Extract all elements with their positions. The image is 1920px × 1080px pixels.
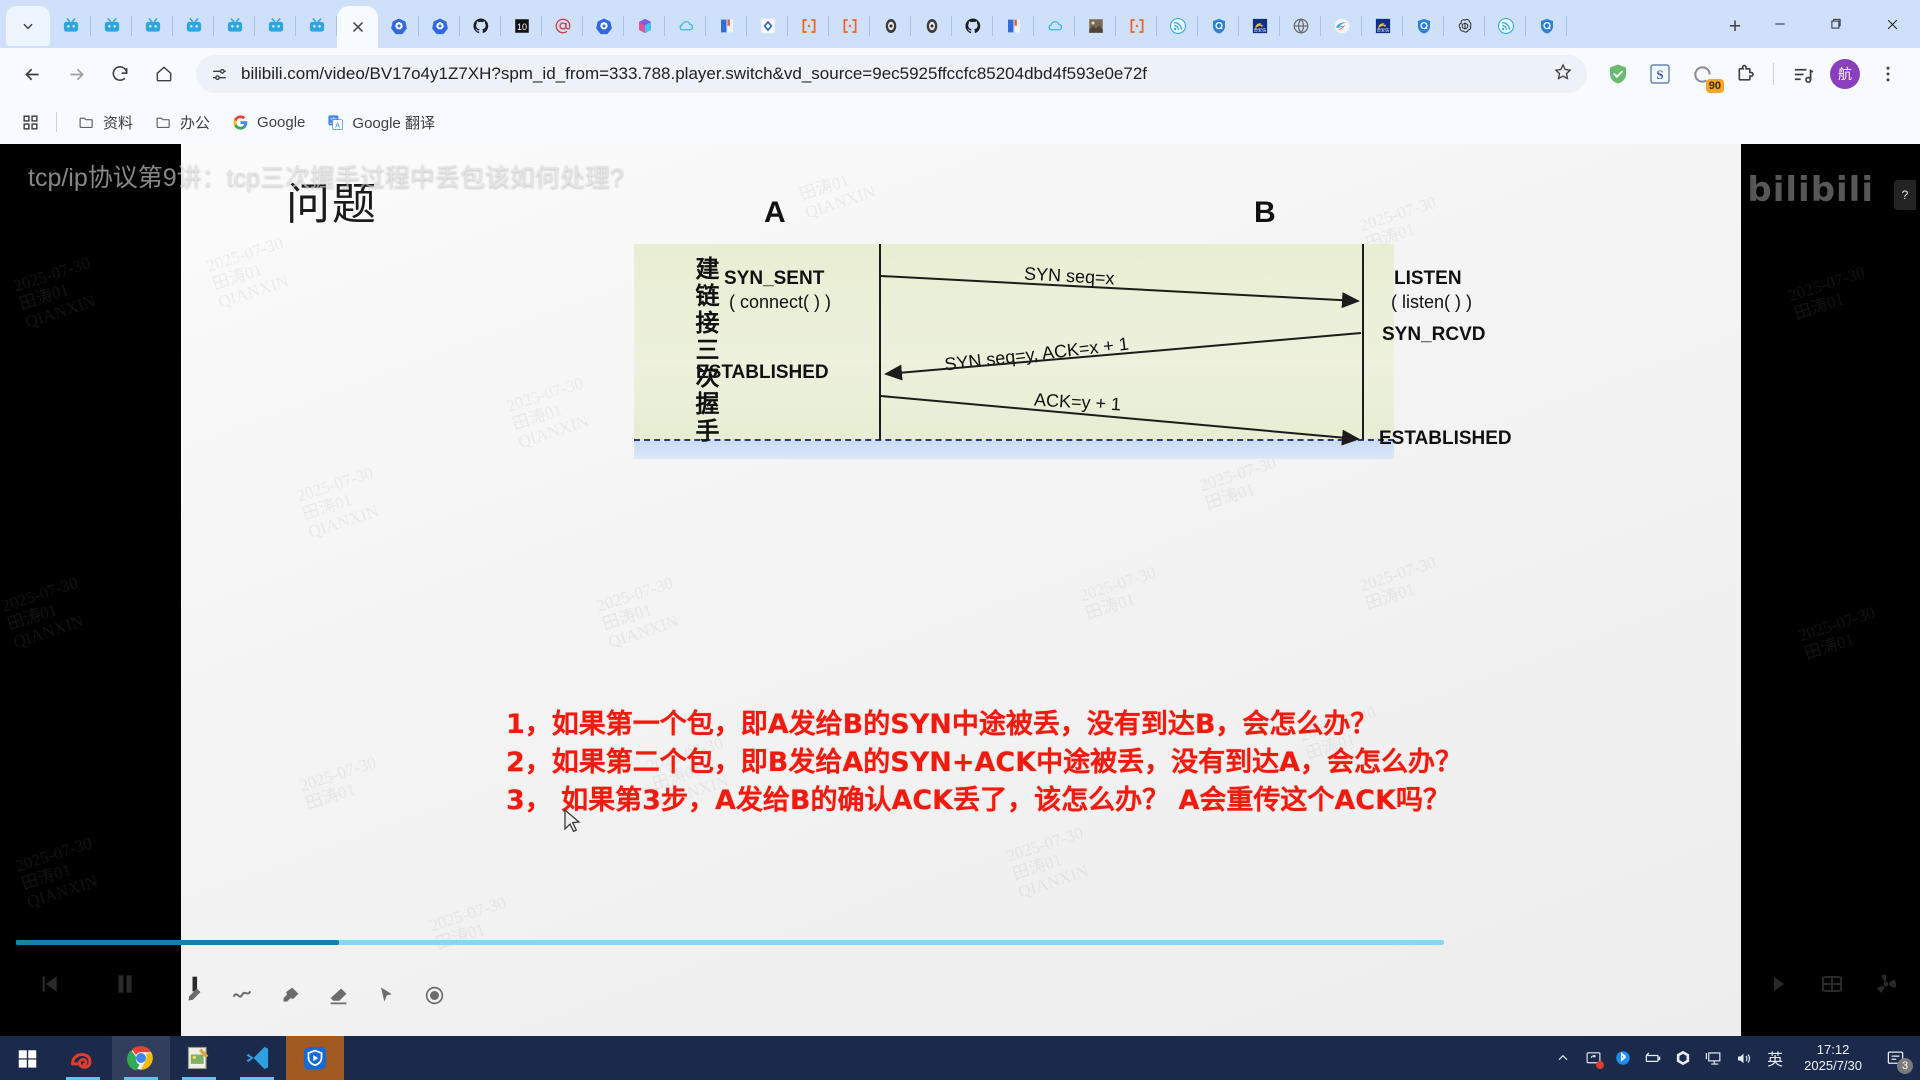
watermark: 2025-07-30田涛01QIANXIN xyxy=(13,833,106,912)
globe-icon xyxy=(1292,17,1310,35)
system-tray: 英 17:12 2025/7/30 3 xyxy=(1548,1036,1920,1080)
avatar[interactable]: 航 xyxy=(1830,59,1860,89)
svg-text:奇安信: 奇安信 xyxy=(1253,26,1266,33)
watermark: 2025-07-30田涛01QIANXIN xyxy=(0,573,92,652)
rss-icon xyxy=(1169,17,1187,35)
browser-tab-31[interactable] xyxy=(1321,6,1362,46)
diamond-icon xyxy=(759,17,777,35)
bracket-icon xyxy=(1128,17,1146,35)
new-tab-button[interactable]: + xyxy=(1718,9,1752,43)
sogou-icon[interactable]: S xyxy=(1643,57,1677,91)
pause-icon[interactable] xyxy=(105,964,145,1004)
sync-alert-dot xyxy=(1596,1061,1604,1069)
openai-icon xyxy=(1456,17,1474,35)
watermark: 2025-07-30田涛01 xyxy=(297,753,384,814)
blocker-icon[interactable]: 90 xyxy=(1685,57,1719,91)
bilibili-icon xyxy=(103,17,121,35)
bookmarks-divider xyxy=(56,112,57,132)
watermark: 2025-07-30田涛01QIANXIN xyxy=(594,573,687,652)
kubernetes-icon xyxy=(431,17,449,35)
ten-icon: 10 xyxy=(513,17,531,35)
svg-text:A: A xyxy=(336,121,341,129)
eraser-icon[interactable] xyxy=(325,982,351,1008)
svg-text:10: 10 xyxy=(516,22,526,32)
annotation-toolbar xyxy=(181,982,447,1008)
close-window-icon[interactable] xyxy=(1864,2,1920,46)
browser-tab-10[interactable] xyxy=(460,6,501,46)
progress-played xyxy=(16,940,339,945)
kubernetes-icon xyxy=(595,17,613,35)
help-hint-button[interactable]: ? xyxy=(1894,180,1916,210)
svg-text:奇安信: 奇安信 xyxy=(1376,26,1389,33)
browser-tab-4[interactable] xyxy=(214,6,255,46)
browser-tab-22[interactable] xyxy=(952,6,993,46)
chevron-up-icon[interactable] xyxy=(1548,1036,1578,1080)
disc-icon xyxy=(882,17,900,35)
record-icon[interactable] xyxy=(421,982,447,1008)
tab-list-chevron-down-icon[interactable] xyxy=(6,6,50,46)
browser-tab-34[interactable] xyxy=(1444,6,1485,46)
display-icon[interactable] xyxy=(1698,1036,1728,1080)
bilibili-watermark: bilibili xyxy=(1747,170,1874,210)
aliyun-icon xyxy=(1333,17,1351,35)
notification-count: 3 xyxy=(1897,1058,1913,1074)
browser-tab-9[interactable] xyxy=(419,6,460,46)
watermark: 2025-07-30田涛01 xyxy=(1786,263,1873,324)
question-item-1: 1，如果第一个包，即A发给B的SYN中途被丢，没有到达B，会怎么办？ xyxy=(506,706,1462,744)
browser-tab-36[interactable] xyxy=(1526,6,1567,46)
watermark: 2025-07-30田涛01QIANXIN xyxy=(504,373,597,452)
shield-q-icon xyxy=(1210,17,1228,35)
bilibili-icon xyxy=(144,17,162,35)
tcp-handshake-diagram: A B 建链接三次握手 SYN_SENT ( connect( ) ) ESTA… xyxy=(634,196,1394,481)
watermark: 2025-07-30田涛01QIANXIN xyxy=(294,463,387,542)
folder-icon xyxy=(78,114,95,131)
bracket-icon xyxy=(841,17,859,35)
bookmark-label: Google 翻译 xyxy=(352,112,435,133)
close-icon xyxy=(349,18,367,36)
bilibili-icon xyxy=(308,17,326,35)
browser-tab-11[interactable]: 10 xyxy=(501,6,542,46)
browser-tab-15[interactable] xyxy=(665,6,706,46)
browser-tab-29[interactable]: 奇安信 xyxy=(1239,6,1280,46)
clock[interactable]: 17:12 2025/7/30 xyxy=(1792,1042,1874,1074)
diagram-arrows xyxy=(634,196,1394,481)
watermark: 2025-07-30田涛01 xyxy=(1077,563,1164,624)
browser-tab-33[interactable] xyxy=(1403,6,1444,46)
watermark: 2025-07-30田涛01 xyxy=(1357,553,1444,614)
next-icon[interactable] xyxy=(1760,964,1800,1004)
browser-tab-3[interactable] xyxy=(173,6,214,46)
shield-q-icon xyxy=(1538,17,1556,35)
browser-tab-28[interactable] xyxy=(1198,6,1239,46)
clock-date: 2025/7/30 xyxy=(1804,1058,1862,1074)
book-icon xyxy=(718,17,736,35)
back-arrow-icon[interactable] xyxy=(13,55,51,93)
github-icon xyxy=(472,17,490,35)
slide-stage: 2025-07-30田涛01QIANXIN 2025-07-30田涛01QIAN… xyxy=(181,144,1741,1036)
browser-tab-14[interactable] xyxy=(624,6,665,46)
bracket-icon xyxy=(800,17,818,35)
extensions-puzzle-icon[interactable] xyxy=(1727,57,1761,91)
star-icon[interactable] xyxy=(1553,62,1573,87)
url-text[interactable]: bilibili.com/video/BV17o4y1Z7XH?spm_id_f… xyxy=(241,64,1545,84)
windows-start-icon[interactable] xyxy=(0,1036,54,1080)
disc-icon xyxy=(923,17,941,35)
browser-tab-0[interactable] xyxy=(50,6,91,46)
browser-window: 10奇安信奇安信 + xyxy=(0,0,1920,1080)
watermark: 2025-07-30田涛01QIANXIN xyxy=(11,253,104,332)
bookmark-item-google[interactable]: Google xyxy=(223,107,314,137)
sync-icon[interactable] xyxy=(1578,1036,1608,1080)
at-icon xyxy=(554,17,572,35)
browser-tab-5[interactable] xyxy=(255,6,296,46)
mouse-cursor xyxy=(563,809,583,842)
taskbar-app-vscode[interactable] xyxy=(228,1036,286,1080)
state-b-established: ESTABLISHED xyxy=(1379,428,1512,450)
bilibili-icon xyxy=(62,17,80,35)
browser-tab-23[interactable] xyxy=(993,6,1034,46)
bookmark-label: 资料 xyxy=(103,112,133,133)
browser-tab-17[interactable] xyxy=(747,6,788,46)
qianxin-icon: 奇安信 xyxy=(1251,17,1269,35)
browser-tab-32[interactable]: 奇安信 xyxy=(1362,6,1403,46)
ime-indicator[interactable]: 英 xyxy=(1758,1046,1792,1070)
volume-icon[interactable] xyxy=(1728,1036,1758,1080)
highlighter-icon[interactable] xyxy=(277,982,303,1008)
forward-arrow-icon[interactable] xyxy=(57,55,95,93)
pointer-icon[interactable] xyxy=(373,982,399,1008)
video-player[interactable]: 2025-07-30田涛01QIANXIN 2025-07-30田涛01QIAN… xyxy=(0,144,1920,1036)
home-icon[interactable] xyxy=(145,55,183,93)
grid-layout-icon[interactable] xyxy=(1812,964,1852,1004)
book-icon xyxy=(1005,17,1023,35)
browser-tab-6[interactable] xyxy=(296,6,337,46)
state-syn-rcvd: SYN_RCVD xyxy=(1382,324,1485,346)
battery-icon[interactable] xyxy=(1638,1036,1668,1080)
reload-icon[interactable] xyxy=(101,55,139,93)
browser-tab-35[interactable] xyxy=(1485,6,1526,46)
svg-text:S: S xyxy=(1656,67,1663,82)
bookmark-item-bangong[interactable]: 办公 xyxy=(146,107,219,137)
browser-tab-21[interactable] xyxy=(911,6,952,46)
state-listen: LISTEN xyxy=(1394,268,1462,290)
browser-tab-19[interactable] xyxy=(829,6,870,46)
bookmark-item-ziliao[interactable]: 资料 xyxy=(69,107,142,137)
browser-tab-26[interactable] xyxy=(1116,6,1157,46)
window-controls xyxy=(1752,0,1920,48)
blocker-badge: 90 xyxy=(1706,79,1724,93)
browser-tab-2[interactable] xyxy=(132,6,173,46)
state-listen-sub: ( listen( ) ) xyxy=(1391,292,1472,313)
browser-tab-1[interactable] xyxy=(91,6,132,46)
browser-tab-24[interactable] xyxy=(1034,6,1075,46)
browser-tab-20[interactable] xyxy=(870,6,911,46)
watermark: 2025-07-30田涛01QIANXIN xyxy=(1004,823,1097,902)
browser-tab-27[interactable] xyxy=(1157,6,1198,46)
video-page: 2025-07-30田涛01QIANXIN 2025-07-30田涛01QIAN… xyxy=(0,144,1920,1036)
taskbar-app-player[interactable] xyxy=(286,1036,344,1080)
radiation-icon[interactable] xyxy=(1866,964,1906,1004)
browser-tab-13[interactable] xyxy=(583,6,624,46)
three-dot-menu-icon[interactable] xyxy=(1869,55,1907,93)
apps-grid-icon[interactable] xyxy=(16,108,44,136)
browser-tab-18[interactable] xyxy=(788,6,829,46)
bilibili-icon xyxy=(226,17,244,35)
shield-q-icon xyxy=(1415,17,1433,35)
address-bar[interactable]: bilibili.com/video/BV17o4y1Z7XH?spm_id_f… xyxy=(196,55,1587,93)
progress-bar[interactable] xyxy=(16,940,1716,946)
pen-icon[interactable] xyxy=(181,982,207,1008)
cloud-icon xyxy=(677,17,695,35)
bookmark-item-google-translate[interactable]: 文A Google 翻译 xyxy=(318,107,444,137)
package-icon xyxy=(636,17,654,35)
bookmarks-bar: 资料 办公 Google 文A Google 翻译 xyxy=(0,100,1920,144)
toolbar-divider xyxy=(1773,63,1774,85)
browser-tab-30[interactable] xyxy=(1280,6,1321,46)
bluetooth-icon[interactable] xyxy=(1608,1036,1638,1080)
rss-icon xyxy=(1497,17,1515,35)
taskbar-app-snail[interactable] xyxy=(54,1036,112,1080)
bookmark-label: 办公 xyxy=(180,112,210,133)
page-title: 问题 xyxy=(286,168,378,232)
curve-icon[interactable] xyxy=(229,982,255,1008)
browser-toolbar: bilibili.com/video/BV17o4y1Z7XH?spm_id_f… xyxy=(0,48,1920,100)
tabs: 10奇安信奇安信 xyxy=(50,6,1712,48)
adguard-icon[interactable] xyxy=(1601,57,1635,91)
browser-tab-16[interactable] xyxy=(706,6,747,46)
browser-tab-12[interactable] xyxy=(542,6,583,46)
question-item-3: 3， 如果第3步，A发给B的确认ACK丢了，该怎么办？ A会重传这个ACK吗？ xyxy=(506,782,1462,820)
taskbar-app-image-editor[interactable] xyxy=(170,1036,228,1080)
folder-icon xyxy=(155,114,172,131)
notification-icon[interactable]: 3 xyxy=(1874,1036,1916,1080)
qianxin-icon: 奇安信 xyxy=(1374,17,1392,35)
watermark: 2025-07-30田涛01 xyxy=(1796,603,1883,664)
minimize-icon[interactable] xyxy=(1752,2,1808,46)
windows-taskbar: 英 17:12 2025/7/30 3 xyxy=(0,1036,1920,1080)
bilibili-icon xyxy=(267,17,285,35)
tab-strip: 10奇安信奇安信 + xyxy=(0,0,1920,48)
question-item-2: 2，如果第二个包，即B发给A的SYN+ACK中途被丢，没有到达A，会怎么办？ xyxy=(506,744,1462,782)
hexagon-icon[interactable] xyxy=(1668,1036,1698,1080)
github-icon xyxy=(964,17,982,35)
previous-icon[interactable] xyxy=(28,964,68,1004)
bilibili-icon xyxy=(185,17,203,35)
watermark: 2025-07-30田涛01QIANXIN xyxy=(204,233,297,312)
question-list: 1，如果第一个包，即A发给B的SYN中途被丢，没有到达B，会怎么办？ 2，如果第… xyxy=(506,706,1462,820)
clock-time: 17:12 xyxy=(1804,1042,1862,1058)
media-playlist-icon[interactable] xyxy=(1786,57,1820,91)
maximize-icon[interactable] xyxy=(1808,2,1864,46)
photo-icon xyxy=(1087,17,1105,35)
taskbar-app-chrome[interactable] xyxy=(112,1036,170,1080)
kubernetes-icon xyxy=(390,17,408,35)
cloud-icon xyxy=(1046,17,1064,35)
google-translate-icon: 文A xyxy=(327,114,344,131)
browser-tab-8[interactable] xyxy=(378,6,419,46)
bookmark-label: Google xyxy=(257,114,305,131)
site-settings-icon[interactable] xyxy=(210,65,229,84)
browser-tab-25[interactable] xyxy=(1075,6,1116,46)
browser-tab-7[interactable] xyxy=(337,6,378,48)
google-icon xyxy=(232,114,249,131)
